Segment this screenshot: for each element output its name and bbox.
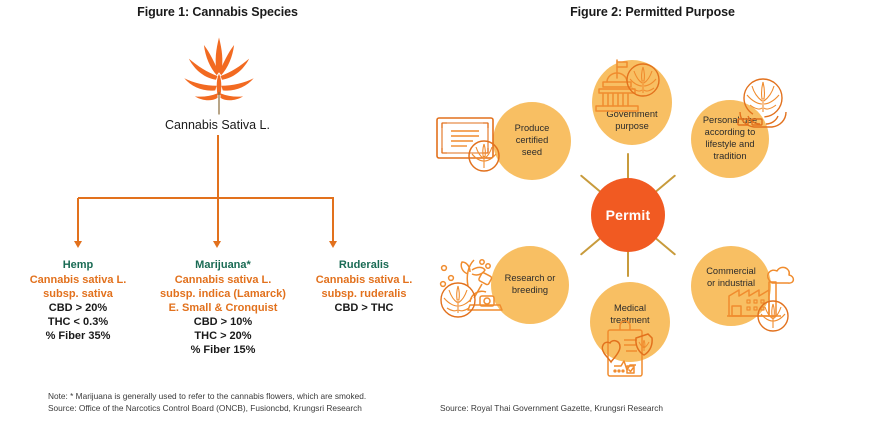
permit-center-node[interactable]: Permit [591, 178, 665, 252]
species-scientific-line: subsp. indica (Lamarck) [148, 287, 298, 301]
satellite-label-line: tradition [703, 151, 757, 163]
species-scientific-line: Cannabis sativa L. [10, 273, 146, 287]
species-name: Ruderalis [298, 258, 430, 272]
figure-1-title: Figure 1: Cannabis Species [0, 5, 435, 19]
figure-2-title: Figure 2: Permitted Purpose [435, 5, 870, 19]
government-building-leaf-icon [593, 58, 663, 116]
branch-connector-ruderalis [332, 198, 334, 243]
species-fact: THC < 0.3% [10, 315, 146, 329]
satellite-label-line: Produce [515, 123, 550, 135]
branch-connector-hemp [77, 198, 79, 243]
cannabis-leaf-icon [181, 36, 257, 116]
arrow-head-hemp [74, 241, 82, 248]
species-fact: CBD > 20% [10, 301, 146, 315]
species-scientific-line: Cannabis sativa L. [298, 273, 430, 287]
species-scientific-line: subsp. sativa [10, 287, 146, 301]
species-block-ruderalis: Ruderalis Cannabis sativa L. subsp. rude… [298, 258, 430, 315]
permit-center-label: Permit [606, 207, 651, 223]
species-fact: % Fiber 35% [10, 329, 146, 343]
species-fact: CBD > THC [298, 301, 430, 315]
arrow-head-ruderalis [329, 241, 337, 248]
factory-leaf-icon [723, 262, 801, 334]
figure-1-source: Source: Office of the Narcotics Control … [48, 402, 362, 415]
species-block-hemp: Hemp Cannabis sativa L. subsp. sativa CB… [10, 258, 146, 343]
branch-connector-marijuana [217, 198, 219, 243]
arrow-head-marijuana [213, 241, 221, 248]
species-scientific-line: Cannabis sativa L. [148, 273, 298, 287]
satellite-label-line: lifestyle and [703, 139, 757, 151]
species-block-marijuana: Marijuana* Cannabis sativa L. subsp. ind… [148, 258, 298, 358]
trunk-connector [217, 135, 219, 198]
figure-2-source: Source: Royal Thai Government Gazette, K… [440, 402, 663, 415]
root-species-label: Cannabis Sativa L. [0, 118, 435, 132]
satellite-label-line: purpose [606, 121, 657, 133]
species-scientific-line: subsp. ruderalis [298, 287, 430, 301]
permit-hub-diagram: Government purpose [435, 30, 870, 390]
microscope-leaf-icon [438, 252, 516, 324]
figure-1-note: Note: * Marijuana is generally used to r… [48, 390, 366, 403]
species-name: Marijuana* [148, 258, 298, 272]
species-fact: THC > 20% [148, 329, 298, 343]
species-scientific-line: E. Small & Cronquist [148, 301, 298, 315]
medical-clipboard-heart-icon [600, 320, 658, 382]
satellite-label-line: seed [515, 147, 550, 159]
satellite-label-line: certified [515, 135, 550, 147]
species-fact: % Fiber 15% [148, 343, 298, 357]
satellite-label-line: Medical [610, 303, 649, 315]
certificate-leaf-icon [433, 112, 513, 176]
crossbar-connector [78, 197, 334, 199]
species-fact: CBD > 10% [148, 315, 298, 329]
figure-2-panel: Figure 2: Permitted Purpose [435, 0, 870, 424]
figure-1-panel: Figure 1: Cannabis Species Cannabis Sati… [0, 0, 435, 424]
species-name: Hemp [10, 258, 146, 272]
hands-holding-leaf-icon [730, 72, 796, 134]
